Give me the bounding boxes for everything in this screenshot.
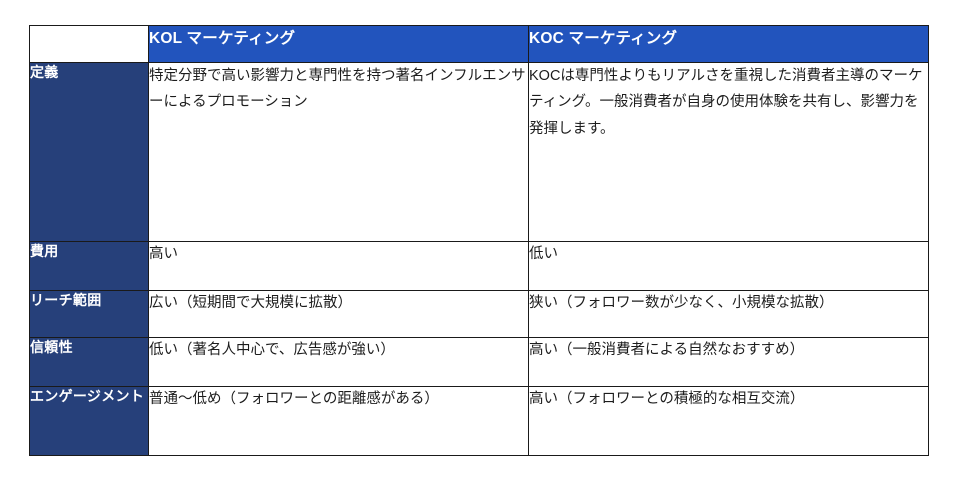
- row-label-trust: 信頼性: [30, 338, 149, 387]
- cell-cost-kol: 高い: [149, 242, 529, 291]
- header-corner-blank: [30, 26, 149, 63]
- column-header-koc: KOC マーケティング: [529, 26, 929, 63]
- row-label-cost: 費用: [30, 242, 149, 291]
- cell-cost-koc: 低い: [529, 242, 929, 291]
- table-row-definition: 定義 特定分野で高い影響力と専門性を持つ著名インフルエンサーによるプロモーション…: [30, 63, 929, 242]
- cell-trust-koc: 高い（一般消費者による自然なおすすめ）: [529, 338, 929, 387]
- table-header-row: KOL マーケティング KOC マーケティング: [30, 26, 929, 63]
- kol-koc-comparison-table: KOL マーケティング KOC マーケティング 定義 特定分野で高い影響力と専門…: [29, 25, 929, 456]
- cell-reach-koc: 狭い（フォロワー数が少なく、小規模な拡散）: [529, 291, 929, 338]
- page-canvas: KOL マーケティング KOC マーケティング 定義 特定分野で高い影響力と専門…: [0, 0, 963, 488]
- row-label-engagement: エンゲージメント: [30, 387, 149, 456]
- row-label-definition: 定義: [30, 63, 149, 242]
- table-row-cost: 費用 高い 低い: [30, 242, 929, 291]
- cell-trust-kol: 低い（著名人中心で、広告感が強い）: [149, 338, 529, 387]
- cell-engagement-koc: 高い（フォロワーとの積極的な相互交流）: [529, 387, 929, 456]
- cell-definition-kol: 特定分野で高い影響力と専門性を持つ著名インフルエンサーによるプロモーション: [149, 63, 529, 242]
- table-row-trust: 信頼性 低い（著名人中心で、広告感が強い） 高い（一般消費者による自然なおすすめ…: [30, 338, 929, 387]
- row-label-reach: リーチ範囲: [30, 291, 149, 338]
- table-row-reach: リーチ範囲 広い（短期間で大規模に拡散） 狭い（フォロワー数が少なく、小規模な拡…: [30, 291, 929, 338]
- column-header-kol: KOL マーケティング: [149, 26, 529, 63]
- cell-definition-koc: KOCは専門性よりもリアルさを重視した消費者主導のマーケティング。一般消費者が自…: [529, 63, 929, 242]
- cell-engagement-kol: 普通～低め（フォロワーとの距離感がある）: [149, 387, 529, 456]
- cell-reach-kol: 広い（短期間で大規模に拡散）: [149, 291, 529, 338]
- table-row-engagement: エンゲージメント 普通～低め（フォロワーとの距離感がある） 高い（フォロワーとの…: [30, 387, 929, 456]
